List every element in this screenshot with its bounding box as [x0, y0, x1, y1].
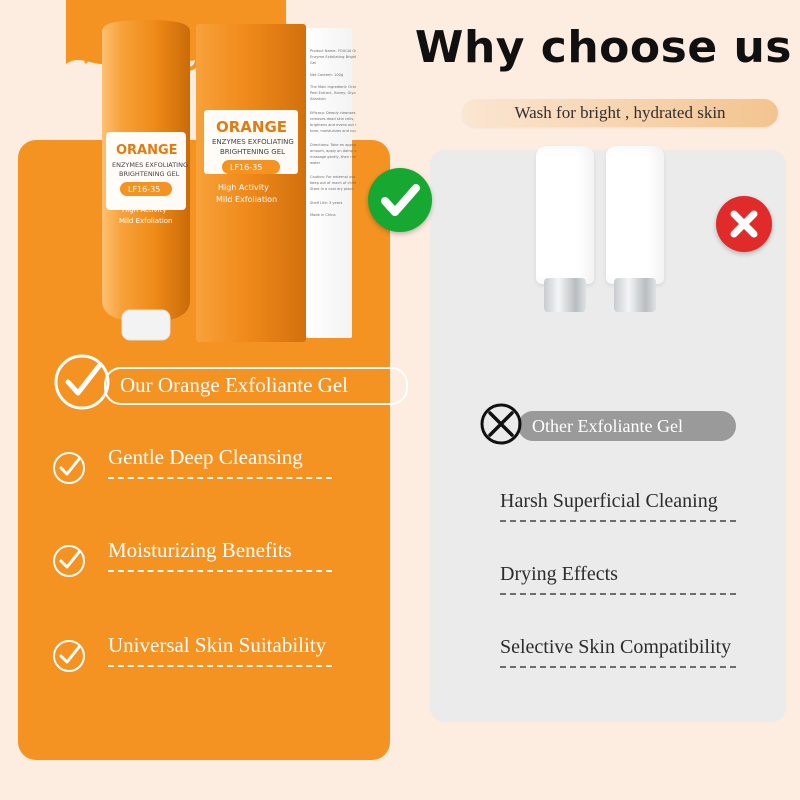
svg-text:Mild Exfoliation: Mild Exfoliation — [216, 195, 277, 204]
svg-text:Gel: Gel — [310, 61, 316, 65]
svg-text:removes dead skin cells,: removes dead skin cells, — [310, 117, 354, 121]
svg-text:Directions: Take an appropriat: Directions: Take an appropriate — [310, 143, 356, 147]
competitor-title-pill: Other Exfoliante Gel — [518, 411, 736, 441]
our-feature-3: Universal Skin Suitability — [52, 633, 382, 693]
svg-text:LF16-35: LF16-35 — [128, 185, 160, 194]
subtitle-banner: Wash for bright , hydrated skin — [462, 99, 778, 127]
svg-text:amount, apply on damp skin,: amount, apply on damp skin, — [310, 149, 356, 153]
our-feature-text: Gentle Deep Cleansing — [108, 445, 303, 470]
divider — [108, 477, 332, 479]
our-feature-1: Gentle Deep Cleansing — [52, 445, 382, 505]
svg-text:Made in China: Made in China — [310, 213, 336, 217]
tube-cap — [614, 278, 656, 312]
poster-canvas: Why choose us Wash for bright , hydrated… — [0, 0, 800, 800]
cross-circle-icon — [478, 401, 524, 447]
svg-text:Enzyme Exfoliating Brightening: Enzyme Exfoliating Brightening — [310, 55, 356, 59]
svg-text:ORANGE: ORANGE — [216, 118, 287, 136]
svg-text:The Main Ingredient: Orange: The Main Ingredient: Orange — [309, 85, 356, 89]
svg-text:High Activity: High Activity — [218, 183, 269, 192]
divider — [500, 520, 736, 522]
svg-text:ENZYMES EXFOLIATING: ENZYMES EXFOLIATING — [112, 161, 188, 169]
svg-text:Store in a cool dry place.: Store in a cool dry place. — [310, 187, 355, 191]
svg-text:Caution: For external use only: Caution: For external use only. — [310, 175, 356, 179]
our-feature-text: Universal Skin Suitability — [108, 633, 326, 658]
svg-text:BRIGHTENING GEL: BRIGHTENING GEL — [220, 148, 285, 156]
competitor-feature-2: Drying Effects — [500, 563, 800, 619]
tube-body — [536, 146, 594, 284]
svg-text:massage gently, then rinse wit: massage gently, then rinse with — [310, 155, 356, 159]
svg-text:Net Content: 100g: Net Content: 100g — [310, 73, 343, 77]
green-check-badge — [368, 168, 432, 232]
competitor-feature-3: Selective Skin Compatibility — [500, 636, 800, 692]
svg-text:brightens and evens out skin: brightens and evens out skin — [310, 123, 356, 127]
svg-text:Keep out of reach of children.: Keep out of reach of children. — [310, 181, 356, 185]
svg-text:High Activity: High Activity — [122, 206, 167, 214]
svg-text:Mild Exfoliation: Mild Exfoliation — [119, 217, 173, 225]
divider — [108, 570, 332, 572]
competitor-feature-text: Harsh Superficial Cleaning — [500, 490, 718, 513]
divider — [108, 665, 332, 667]
check-circle-icon — [52, 352, 112, 412]
tube-cap — [544, 278, 586, 312]
svg-text:Allantoin: Allantoin — [310, 97, 326, 101]
tube-body — [606, 146, 664, 284]
svg-text:BRIGHTENING GEL: BRIGHTENING GEL — [119, 170, 180, 178]
our-feature-2: Moisturizing Benefits — [52, 538, 382, 598]
check-circle-icon — [52, 544, 86, 578]
svg-text:ENZYMES EXFOLIATING: ENZYMES EXFOLIATING — [212, 138, 294, 146]
competitor-title: Other Exfoliante Gel — [518, 411, 736, 441]
page-title: Why choose us — [368, 22, 792, 74]
check-circle-icon — [52, 451, 86, 485]
divider — [500, 593, 736, 595]
svg-text:Peel Extract, Honey, Glycerin,: Peel Extract, Honey, Glycerin, — [310, 91, 356, 95]
our-product-title: Our Orange Exfoliante Gel — [106, 369, 406, 401]
competitor-tube-1 — [536, 146, 594, 314]
product-box: ORANGE ENZYMES EXFOLIATING BRIGHTENING G… — [196, 24, 356, 342]
product-tube: ORANGE ENZYMES EXFOLIATING BRIGHTENING G… — [92, 14, 200, 344]
svg-text:Product Name: YOUCAI Orange: Product Name: YOUCAI Orange — [310, 49, 356, 53]
check-circle-icon — [52, 639, 86, 673]
competitor-feature-text: Drying Effects — [500, 563, 618, 586]
subtitle-text: Wash for bright , hydrated skin — [462, 99, 778, 127]
svg-text:Efficacy: Deeply cleanses pore: Efficacy: Deeply cleanses pores, — [310, 111, 356, 115]
competitor-feature-text: Selective Skin Compatibility — [500, 636, 731, 659]
svg-text:tone, moisturizes and nourishe: tone, moisturizes and nourishes — [310, 129, 356, 133]
svg-text:LF16-35: LF16-35 — [230, 163, 262, 172]
our-feature-text: Moisturizing Benefits — [108, 538, 292, 563]
divider — [500, 666, 736, 668]
svg-text:water: water — [310, 161, 321, 165]
svg-text:Shelf Life: 3 years: Shelf Life: 3 years — [310, 201, 342, 205]
red-cross-badge — [716, 196, 772, 252]
our-product-title-pill: Our Orange Exfoliante Gel — [104, 367, 408, 405]
svg-text:ORANGE: ORANGE — [116, 143, 178, 158]
competitor-tube-2 — [606, 146, 664, 314]
competitor-feature-1: Harsh Superficial Cleaning — [500, 490, 800, 546]
